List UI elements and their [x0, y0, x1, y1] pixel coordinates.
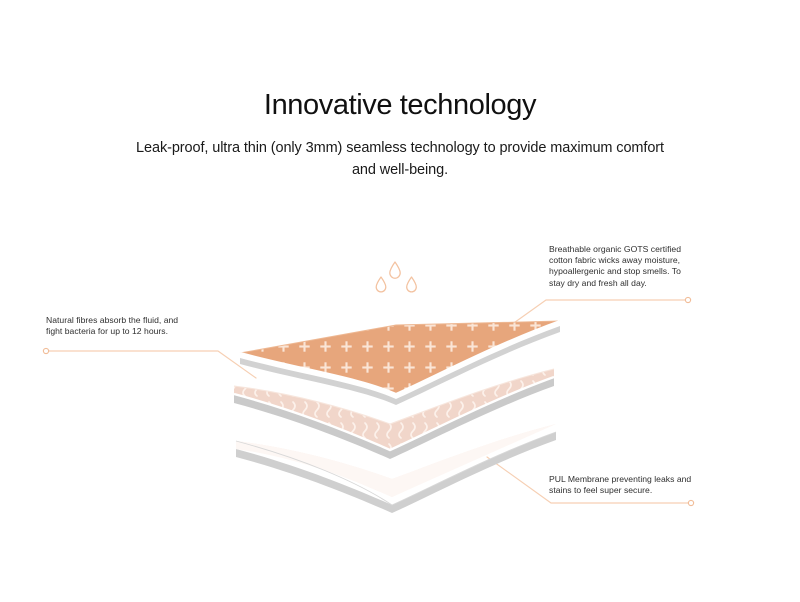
annotation-line: hypoallergenic and stop smells. To: [549, 266, 681, 277]
page-title: Innovative technology: [0, 88, 800, 122]
annotation-line: stay dry and fresh all day.: [549, 278, 681, 289]
leader-dot-bottom-right: [688, 500, 693, 505]
water-droplets: [376, 262, 416, 292]
layer-middle-absorbent: [234, 369, 554, 459]
page-subtitle-line-1: Leak-proof, ultra thin (only 3mm) seamle…: [0, 137, 800, 159]
annotation-line: fight bacteria for up to 12 hours.: [46, 326, 178, 337]
annotation-line: Natural fibres absorb the fluid, and: [46, 315, 178, 326]
annotation-line: Breathable organic GOTS certified: [549, 244, 681, 255]
layer-bottom-pul: [236, 424, 556, 513]
leader-dot-top-right: [685, 297, 690, 302]
annotation-pul-membrane: PUL Membrane preventing leaks and stains…: [549, 474, 691, 496]
annotation-breathable-cotton-fabric: Breathable organic GOTS certified cotton…: [549, 244, 681, 289]
annotation-line: PUL Membrane preventing leaks and: [549, 474, 691, 485]
header: Innovative technology Leak-proof, ultra …: [0, 88, 800, 181]
layer-top-cotton: [240, 321, 560, 405]
droplet-icon-left: [376, 277, 386, 292]
annotation-line: cotton fabric wicks away moisture,: [549, 255, 681, 266]
page-subtitle-line-2: and well-being.: [0, 159, 800, 181]
infographic-canvas: Innovative technology Leak-proof, ultra …: [0, 0, 800, 602]
leader-line-top-right: [497, 300, 686, 335]
droplet-icon-right: [407, 277, 417, 292]
annotation-natural-fibres: Natural fibres absorb the fluid, and fig…: [46, 315, 178, 337]
annotation-line: stains to feel super secure.: [549, 485, 691, 496]
droplet-icon-center: [390, 262, 400, 278]
leader-line-left: [48, 351, 256, 378]
leader-dot-left: [43, 348, 48, 353]
page-subtitle: Leak-proof, ultra thin (only 3mm) seamle…: [0, 122, 800, 181]
